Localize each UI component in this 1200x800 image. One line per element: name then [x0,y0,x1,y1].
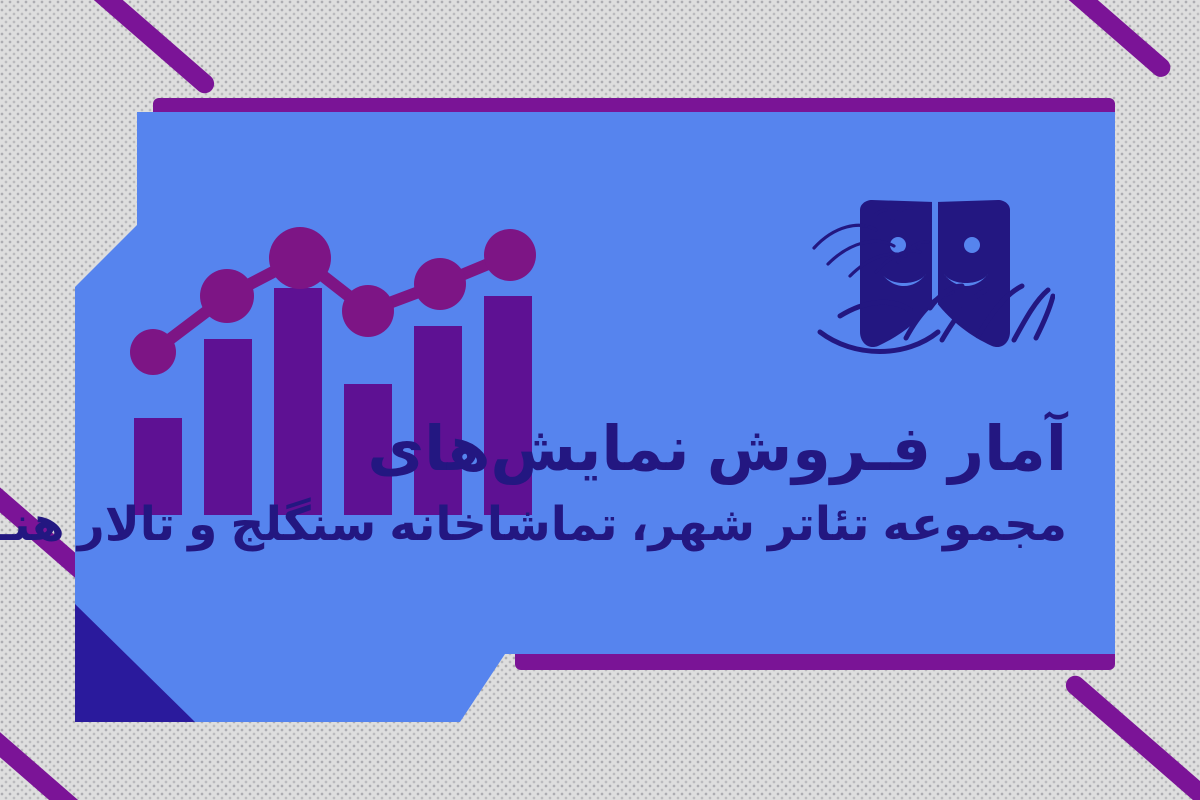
chart-markers [130,227,536,375]
chart-marker-2 [200,269,254,323]
stripe-top-right-icon [996,0,1175,81]
stripe-top-left-icon [32,0,218,97]
poster-card: آمار فـروش نمایش‌های مجموعه تئاتر شهر، ت… [75,112,1115,722]
headline-block: آمار فـروش نمایش‌های مجموعه تئاتر شهر، ت… [107,412,1067,555]
poster-canvas: آمار فـروش نمایش‌های مجموعه تئاتر شهر، ت… [0,0,1200,800]
organization-logo [810,190,1055,365]
chart-marker-3 [269,227,331,289]
chart-marker-1 [130,329,176,375]
headline-line-1: آمار فـروش نمایش‌های [107,412,1067,488]
chart-marker-6 [484,229,536,281]
chart-marker-5 [414,258,466,310]
chart-marker-4 [342,285,394,337]
headline-line-2: مجموعه تئاتر شهر، تماشاخانه سنگلج و تالا… [107,492,1067,555]
